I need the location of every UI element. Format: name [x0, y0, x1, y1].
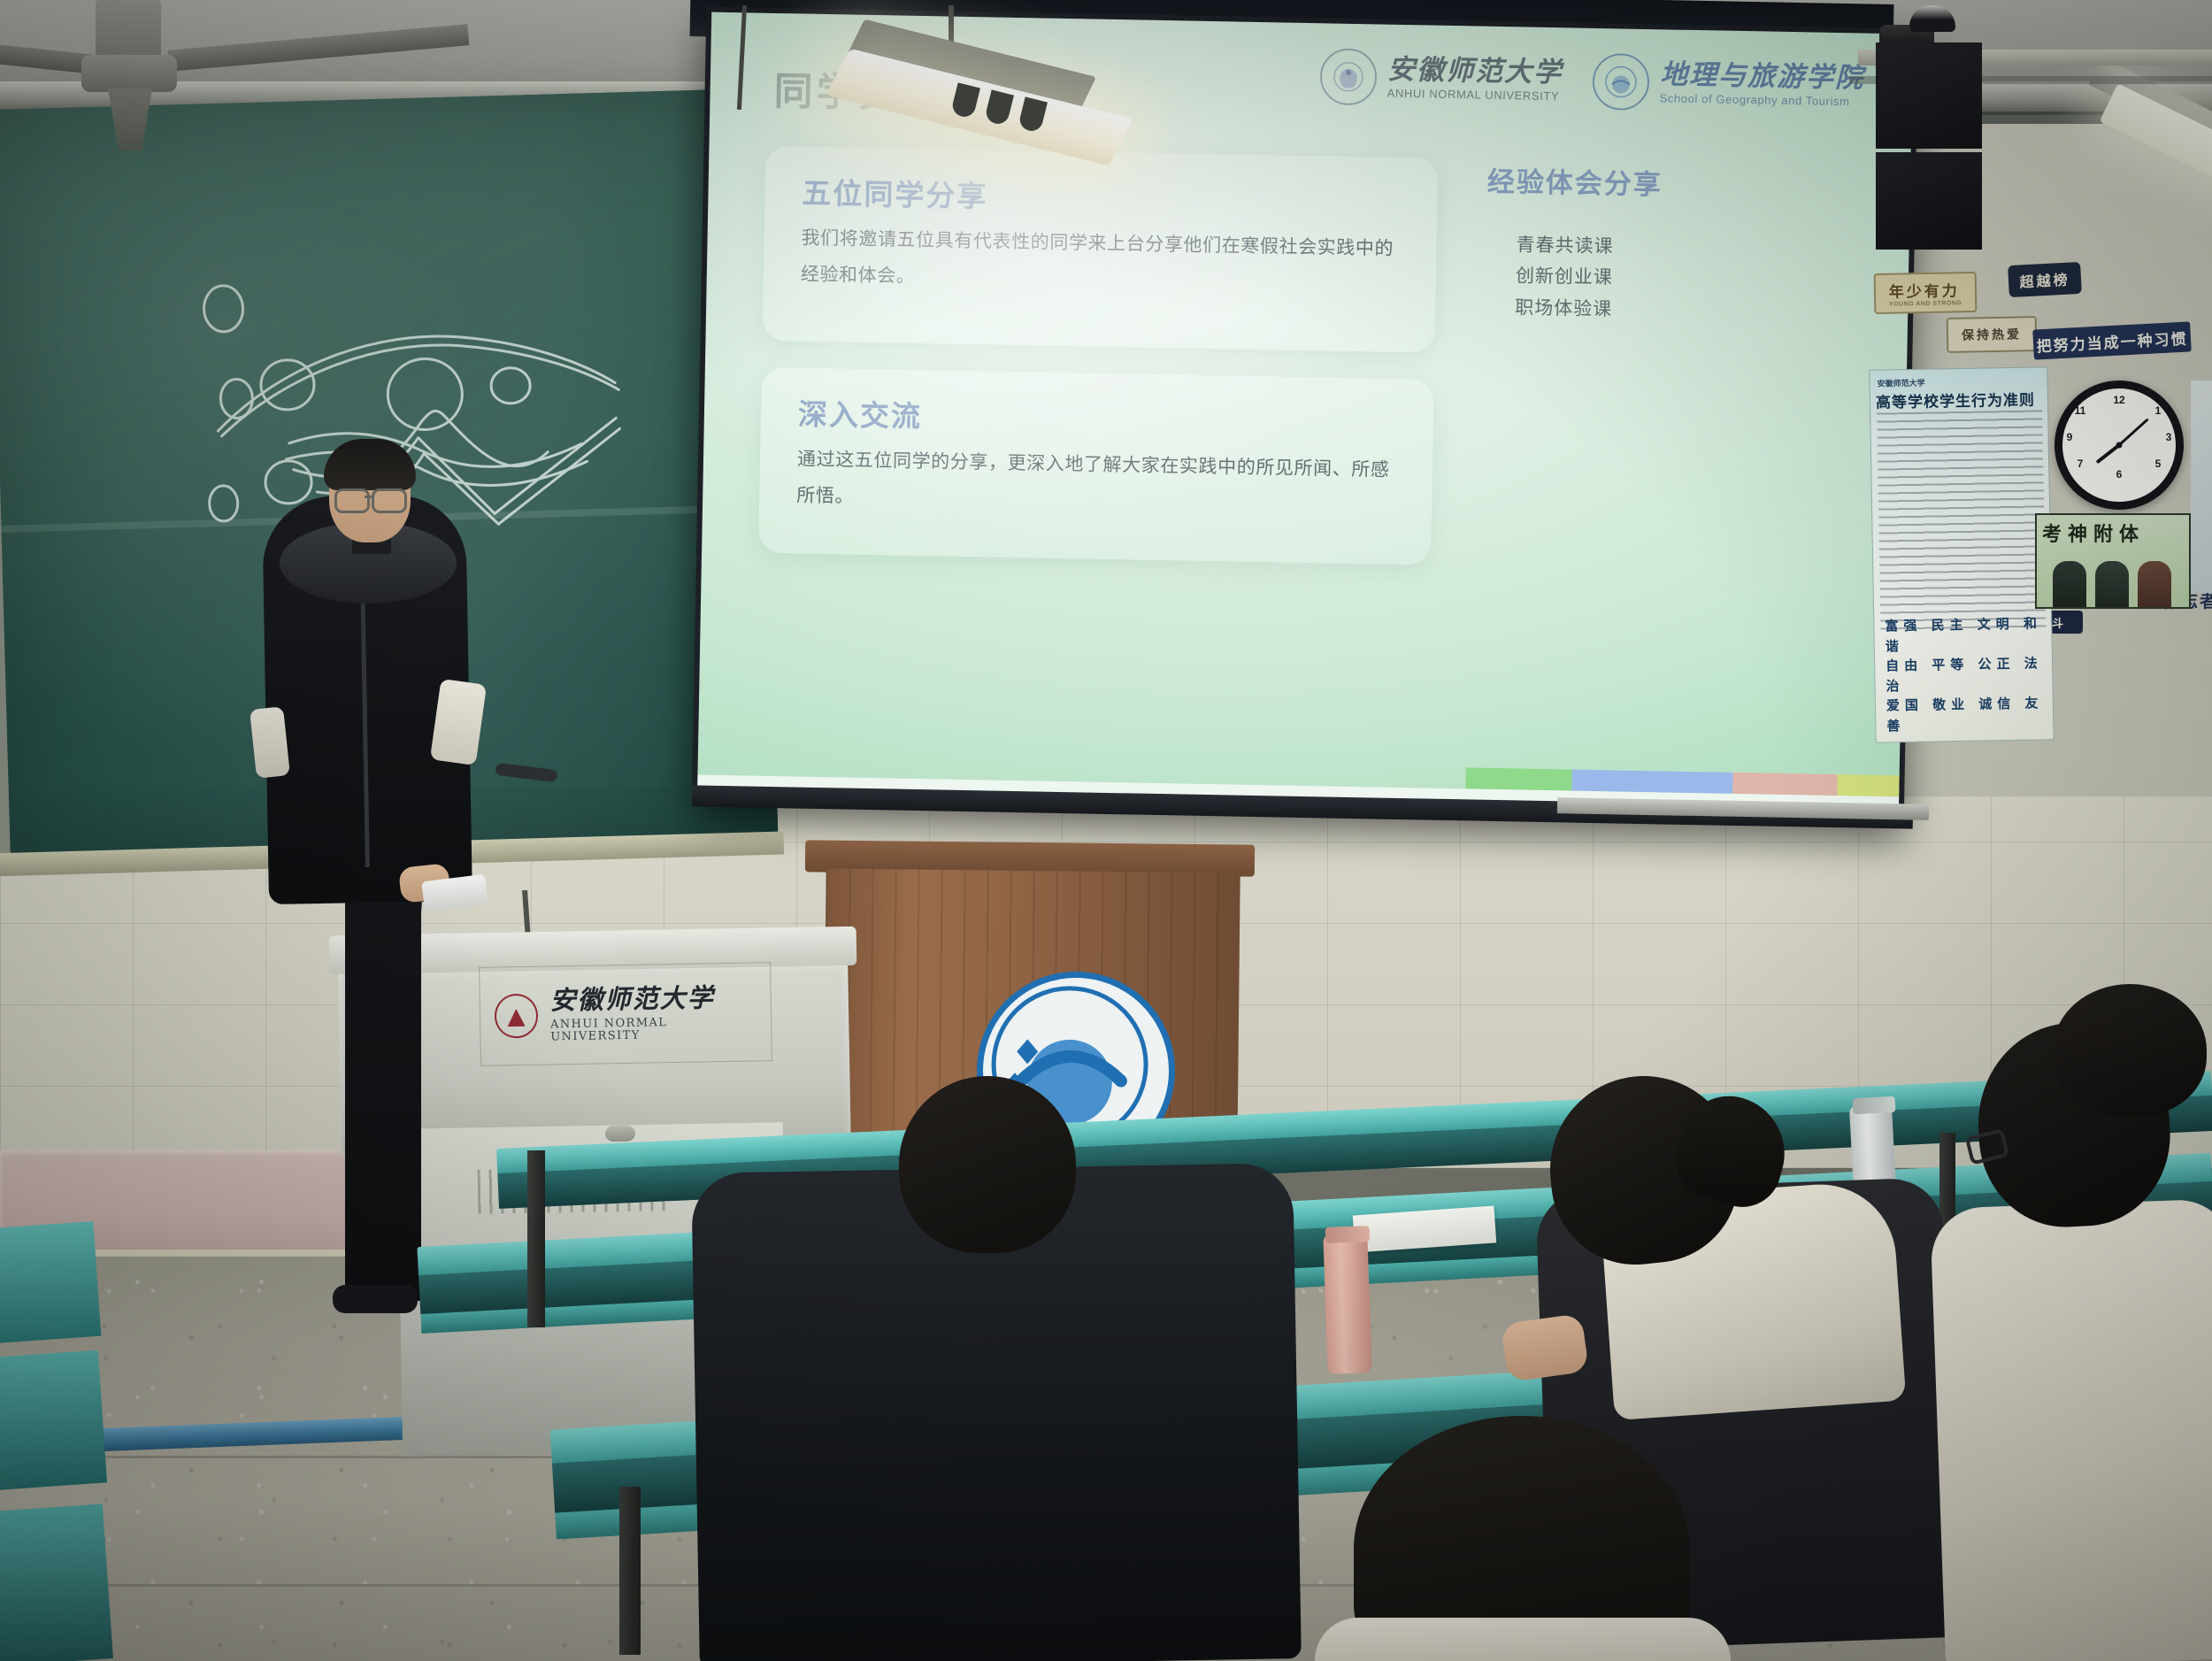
- plaque-baochi-reai: 保持热爱: [1947, 316, 2038, 353]
- ceiling-fan-hub: [81, 55, 177, 92]
- student-head: [2053, 984, 2207, 1117]
- podium-handle: [605, 1126, 635, 1142]
- desk-side: [0, 1350, 107, 1491]
- eyeglasses-icon: [372, 488, 407, 513]
- desk-side: [0, 1503, 113, 1661]
- bottle-cap: [1853, 1096, 1896, 1114]
- clock-numeral: 3: [2162, 431, 2176, 443]
- desk-leg: [619, 1487, 641, 1655]
- color-swatch: [1837, 774, 1899, 796]
- eyeglasses-bridge: [365, 496, 373, 498]
- wall-speaker: [1876, 42, 1982, 149]
- core-values-line: 自由 平等 公正 法治: [1886, 654, 2047, 696]
- clock-minute-hand: [2118, 418, 2149, 446]
- wall-speaker: [1876, 152, 1982, 250]
- plaque-text: 年少有力: [1889, 282, 1960, 300]
- right-column-heading: 经验体会分享: [1487, 159, 1780, 204]
- clock-numeral: 1: [2151, 404, 2165, 417]
- poster-kaoshen-futi: 考神附体: [2035, 513, 2191, 609]
- color-swatch: [1571, 770, 1732, 794]
- school-of-geography-tourism-crest-icon: [1592, 53, 1649, 111]
- wall-poster-edge: [2191, 381, 2212, 593]
- right-column-list: 青春共读课 创新创业课 职场体验课: [1515, 229, 1778, 327]
- poster-title: 高等学校学生行为准则: [1876, 388, 2035, 412]
- clock-numeral: 11: [2073, 404, 2087, 417]
- list-item: 职场体验课: [1515, 292, 1778, 328]
- list-item: 青春共读课: [1516, 229, 1778, 265]
- classroom-photo: 同学交流环节 安徽师范大学 ANHUI NORMAL UNIVERSITY: [0, 0, 2212, 1661]
- logo-school-of-geography-tourism: 地理与旅游学院 School of Geography and Tourism: [1592, 53, 1864, 115]
- poster-figure: [2053, 561, 2086, 607]
- clock-numeral: 6: [2112, 468, 2126, 481]
- poster-figure: [2095, 561, 2129, 607]
- student-front-row-shoulders: [1315, 1618, 1731, 1661]
- clock-numeral: 5: [2151, 458, 2165, 470]
- plaque-chaoyue: 超越榜: [2008, 262, 2082, 297]
- clock-numeral: 9: [2062, 431, 2077, 443]
- color-swatch: [1465, 767, 1571, 790]
- desk-side: [0, 1221, 101, 1343]
- eyeglasses-icon: [334, 488, 370, 513]
- core-values-block: 富强 民主 文明 和谐 自由 平等 公正 法治 爱国 敬业 诚信 友善: [1885, 614, 2047, 736]
- presenter-legs: [345, 894, 421, 1301]
- clock-numeral: 12: [2112, 394, 2126, 406]
- presenter-shoe: [333, 1285, 418, 1313]
- bottle-cap: [1325, 1226, 1371, 1243]
- podium-crest-en: ANHUI NORMAL UNIVERSITY: [550, 1015, 757, 1044]
- slide-right-column: 经验体会分享 青春共读课 创新创业课 职场体验课: [1485, 159, 1779, 328]
- poster-body-text: [1877, 410, 2046, 634]
- student-head: [899, 1076, 1076, 1253]
- logo-en-text: School of Geography and Tourism: [1660, 93, 1864, 109]
- podium-branding-plate: 安徽师范大学 ANHUI NORMAL UNIVERSITY: [479, 962, 772, 1066]
- poster-student-code-of-conduct: 安徽师范大学 高等学校学生行为准则 富强 民主 文明 和谐 自由 平等 公正 法…: [1869, 366, 2054, 742]
- podium-crest-cn: 安徽师范大学: [549, 983, 757, 1015]
- wall-clock: 12 1 3 5 6 7 9 11: [2055, 381, 2184, 510]
- core-values-line: 富强 民主 文明 和谐: [1885, 614, 2047, 657]
- clock-center-pin: [2116, 442, 2123, 449]
- poster-figure: [2138, 561, 2171, 607]
- desk-leg: [527, 1150, 545, 1327]
- pink-thermos-bottle: [1323, 1233, 1371, 1374]
- plaque-subtext: YOUNG AND STRONG: [1889, 300, 1962, 307]
- anhui-normal-university-crest-icon: [495, 994, 539, 1039]
- color-swatch: [1732, 773, 1837, 796]
- core-values-line: 爱国 敬业 诚信 友善: [1886, 694, 2048, 736]
- logo-cn-text: 地理与旅游学院: [1660, 60, 1865, 93]
- poster-brand: 安徽师范大学: [1877, 377, 1924, 389]
- list-item: 创新创业课: [1516, 261, 1778, 297]
- student-white-puffer: [1930, 1198, 2212, 1661]
- jacket-sleeve-stripe: [250, 706, 290, 779]
- clock-numeral: 7: [2073, 458, 2087, 470]
- poster-title: 考神附体: [2042, 519, 2145, 547]
- plaque-nianshao-youli: 年少有力 YOUNG AND STRONG: [1874, 272, 1978, 314]
